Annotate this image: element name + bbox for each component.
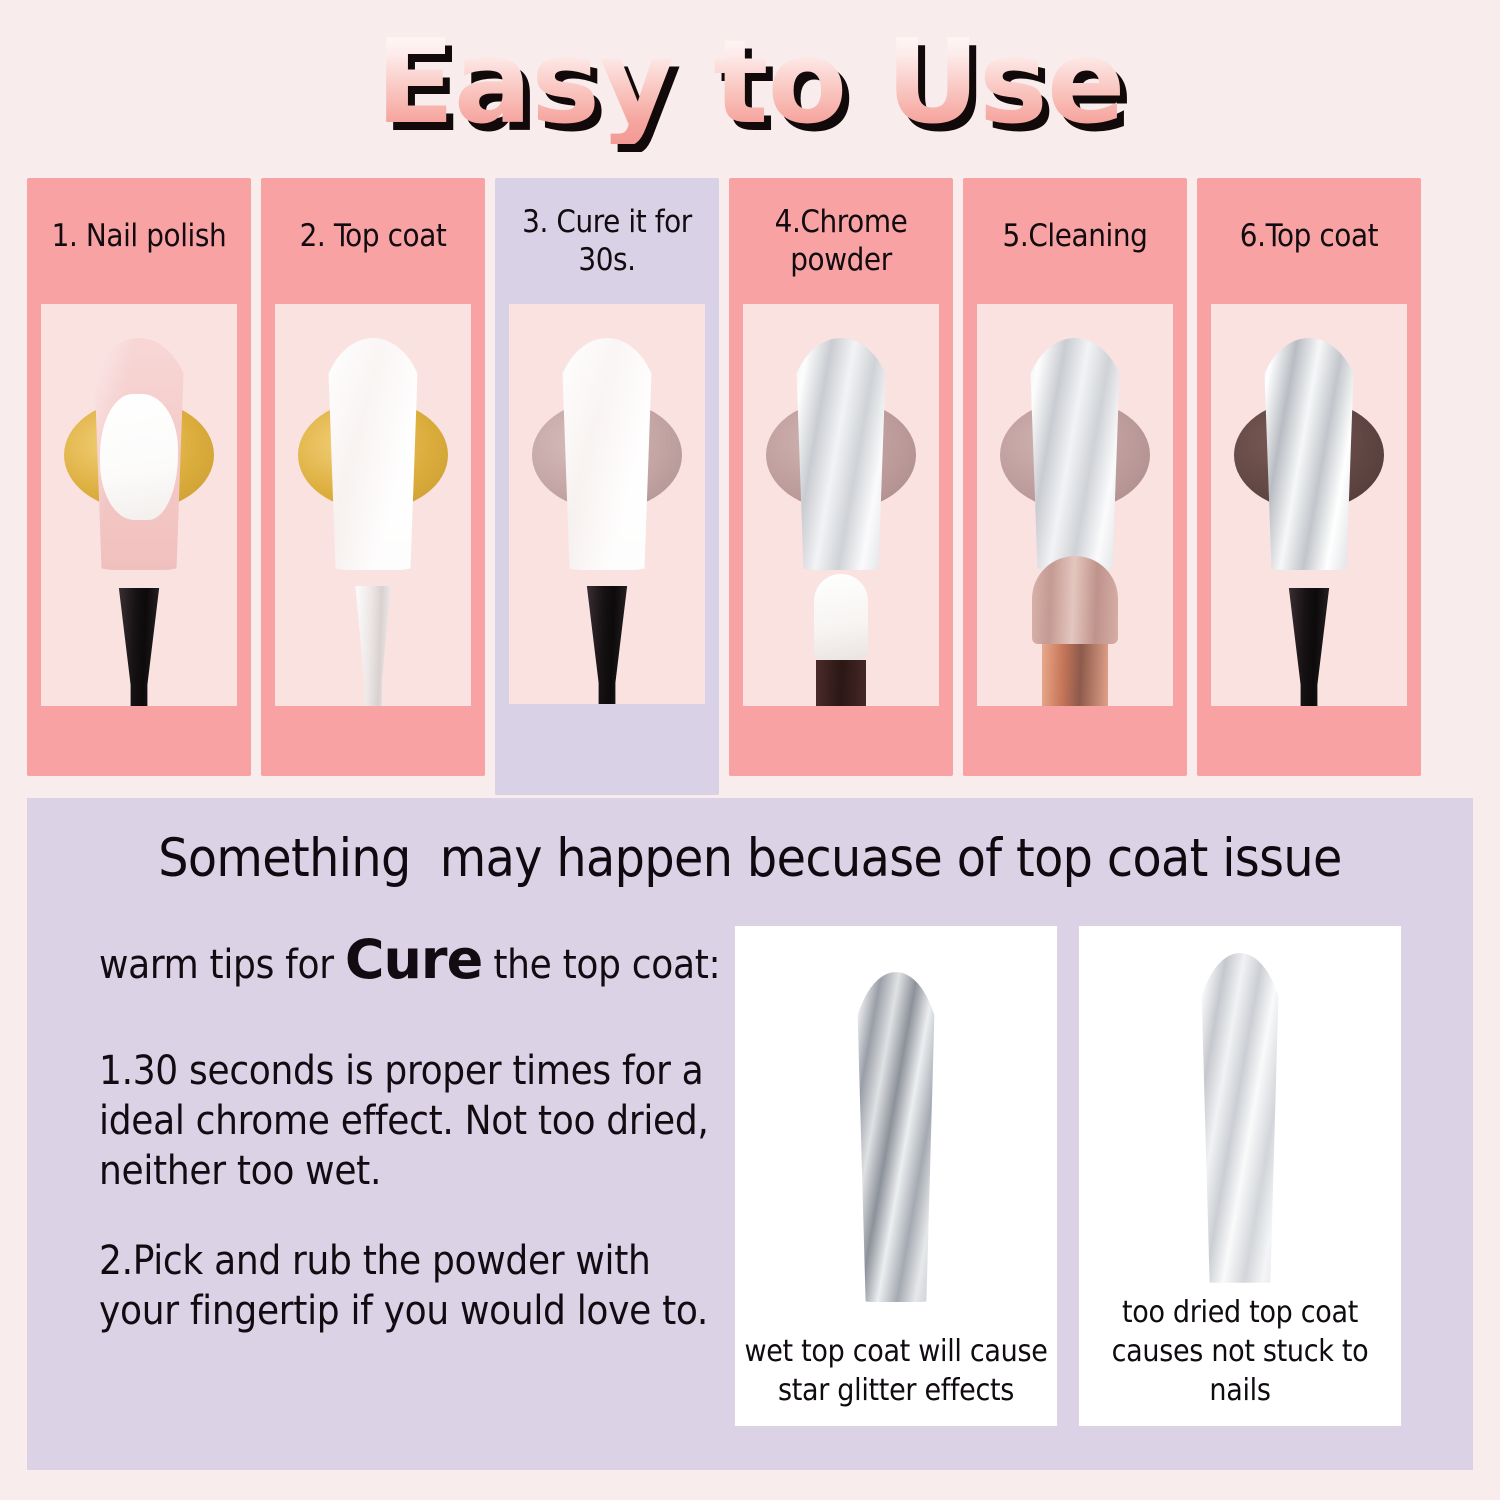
white-coated-nail-icon: [321, 338, 425, 570]
step-label-5: 5.Cleaning: [963, 178, 1187, 256]
step-photo-2: [275, 304, 471, 706]
comparison-caption-dried: too dried top coat causes not stuck to n…: [1085, 1293, 1395, 1410]
step-label-1: 1. Nail polish: [27, 178, 251, 256]
step-card-5: 5.Cleaning: [963, 178, 1187, 776]
white-polish-blob-icon: [100, 394, 178, 520]
white-sponge-applicator-icon: [814, 574, 868, 706]
step-photo-3: [509, 304, 705, 704]
step-card-4: 4.Chrome powder: [729, 178, 953, 776]
black-polish-brush-icon: [1288, 588, 1330, 706]
steps-strip: 1. Nail polish 2. Top coat 3. Cure it fo…: [27, 178, 1473, 778]
troubleshooting-heading: Something may happen becuase of top coat…: [27, 798, 1473, 888]
cure-emphasis: Cure: [345, 928, 482, 991]
wet-top-coat-chrome-nail-icon: [850, 972, 942, 1302]
black-polish-brush-icon: [586, 586, 628, 704]
warm-tips-lead-before: warm tips for: [99, 942, 345, 988]
warm-tips-list: warm tips for Cure the top coat: 1.30 se…: [27, 926, 727, 1426]
sheer-pink-nail-icon: [87, 338, 191, 570]
dried-top-coat-chrome-nail-icon: [1194, 953, 1286, 1283]
step-photo-5: [977, 304, 1173, 706]
comparison-card-dried: too dried top coat causes not stuck to n…: [1079, 926, 1401, 1426]
troubleshooting-body: warm tips for Cure the top coat: 1.30 se…: [27, 888, 1473, 1426]
chrome-silver-glossy-nail-icon: [1257, 338, 1361, 570]
title-banner: Easy to Use: [0, 22, 1500, 144]
step-label-3: 3. Cure it for 30s.: [495, 178, 719, 280]
step-card-3: 3. Cure it for 30s.: [495, 178, 719, 795]
tip-item-1: 1.30 seconds is proper times for a ideal…: [99, 1046, 727, 1196]
step-card-1: 1. Nail polish: [27, 178, 251, 776]
comparison-caption-wet: wet top coat will cause star glitter eff…: [741, 1332, 1051, 1410]
warm-tips-lead: warm tips for Cure the top coat:: [99, 926, 727, 994]
step-card-6: 6.Top coat: [1197, 178, 1421, 776]
comparison-photo-wet: [741, 942, 1051, 1332]
chrome-silver-nail-icon: [789, 338, 893, 570]
step-photo-4: [743, 304, 939, 706]
troubleshooting-panel: Something may happen becuase of top coat…: [27, 798, 1473, 1470]
white-cured-nail-icon: [555, 338, 659, 570]
step-label-2: 2. Top coat: [261, 178, 485, 256]
step-label-4: 4.Chrome powder: [729, 178, 953, 280]
comparison-photo-dried: [1085, 942, 1395, 1293]
page-title: Easy to Use: [375, 22, 1124, 144]
rose-gold-makeup-brush-icon: [1032, 556, 1118, 706]
chrome-silver-nail-icon: [1023, 338, 1127, 570]
tip-item-2: 2.Pick and rub the powder with your fing…: [99, 1236, 727, 1336]
black-polish-brush-icon: [118, 588, 160, 706]
clear-top-coat-brush-icon: [353, 586, 393, 706]
step-card-2: 2. Top coat: [261, 178, 485, 776]
step-label-6: 6.Top coat: [1197, 178, 1421, 256]
comparison-cards: wet top coat will cause star glitter eff…: [727, 926, 1401, 1426]
step-photo-6: [1211, 304, 1407, 706]
step-photo-1: [41, 304, 237, 706]
comparison-card-wet: wet top coat will cause star glitter eff…: [735, 926, 1057, 1426]
warm-tips-lead-after: the top coat:: [482, 942, 720, 988]
